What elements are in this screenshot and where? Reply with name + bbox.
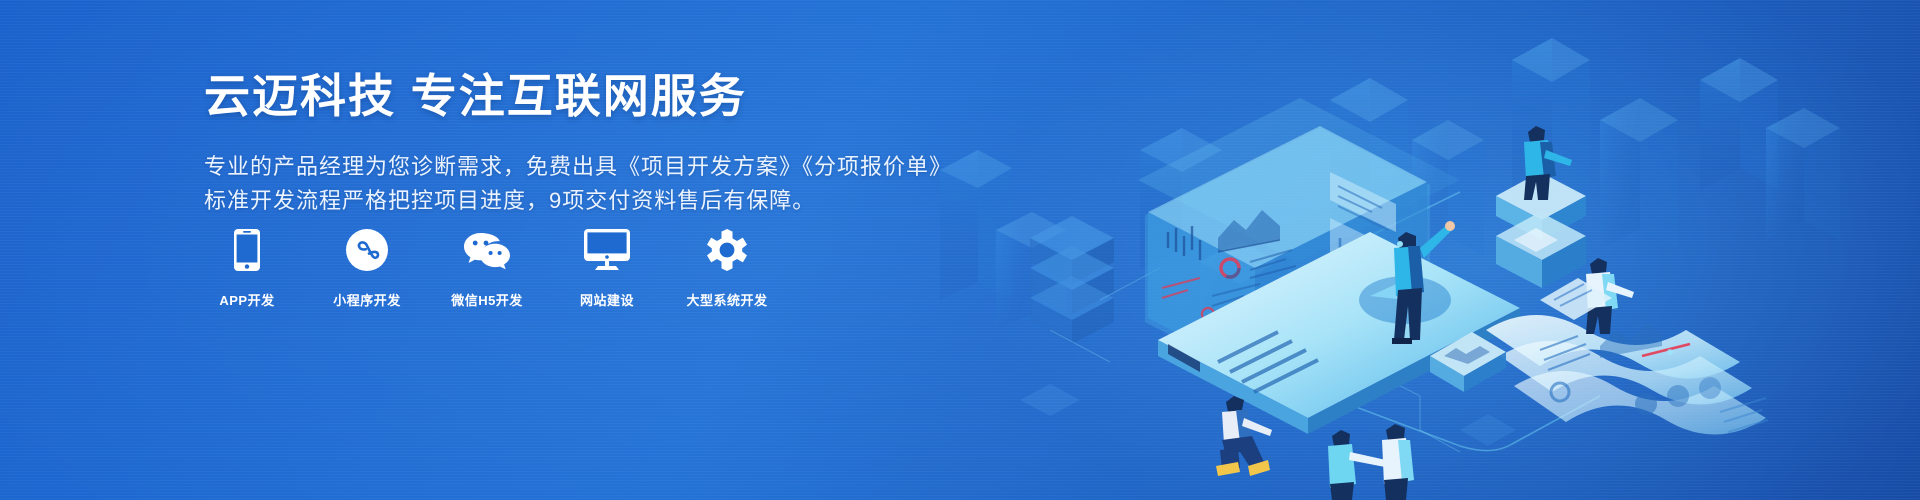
banner-subtitle: 专业的产品经理为您诊断需求，免费出具《项目开发方案》《分项报价单》 标准开发流程… xyxy=(204,150,964,220)
gear-icon xyxy=(706,228,748,272)
hero-banner: 云迈科技 专注互联网服务 专业的产品经理为您诊断需求，免费出具《项目开发方案》《… xyxy=(0,0,1920,500)
illustration-isometric-data-platform xyxy=(900,0,1920,500)
mini-program-icon xyxy=(346,228,388,272)
service-item-website[interactable]: 网站建设 xyxy=(564,228,650,309)
service-label: APP开发 xyxy=(219,290,274,309)
service-label: 小程序开发 xyxy=(333,290,401,309)
service-item-large-system[interactable]: 大型系统开发 xyxy=(684,228,770,309)
service-item-mini-program[interactable]: 小程序开发 xyxy=(324,228,410,309)
wechat-icon xyxy=(463,228,511,272)
two-people-group xyxy=(1328,424,1414,500)
service-item-wechat-h5[interactable]: 微信H5开发 xyxy=(444,228,530,309)
service-label: 微信H5开发 xyxy=(451,290,523,309)
service-label: 网站建设 xyxy=(580,290,634,309)
smartphone-icon xyxy=(234,228,260,272)
service-list: APP开发 小程序开发 xyxy=(204,228,770,309)
service-item-app[interactable]: APP开发 xyxy=(204,228,290,309)
subtitle-line-1: 专业的产品经理为您诊断需求，免费出具《项目开发方案》《分项报价单》 xyxy=(204,150,964,185)
banner-text-block: 云迈科技 专注互联网服务 专业的产品经理为您诊断需求，免费出具《项目开发方案》《… xyxy=(204,68,964,219)
server-stack xyxy=(1030,216,1114,344)
monitor-icon xyxy=(584,228,630,272)
small-platform-box xyxy=(1496,212,1586,288)
service-label: 大型系统开发 xyxy=(686,290,767,309)
page-title: 云迈科技 专注互联网服务 xyxy=(204,68,964,126)
subtitle-line-2: 标准开发流程严格把控项目进度，9项交付资料售后有保障。 xyxy=(204,184,964,219)
data-ribbon xyxy=(1486,315,1768,435)
